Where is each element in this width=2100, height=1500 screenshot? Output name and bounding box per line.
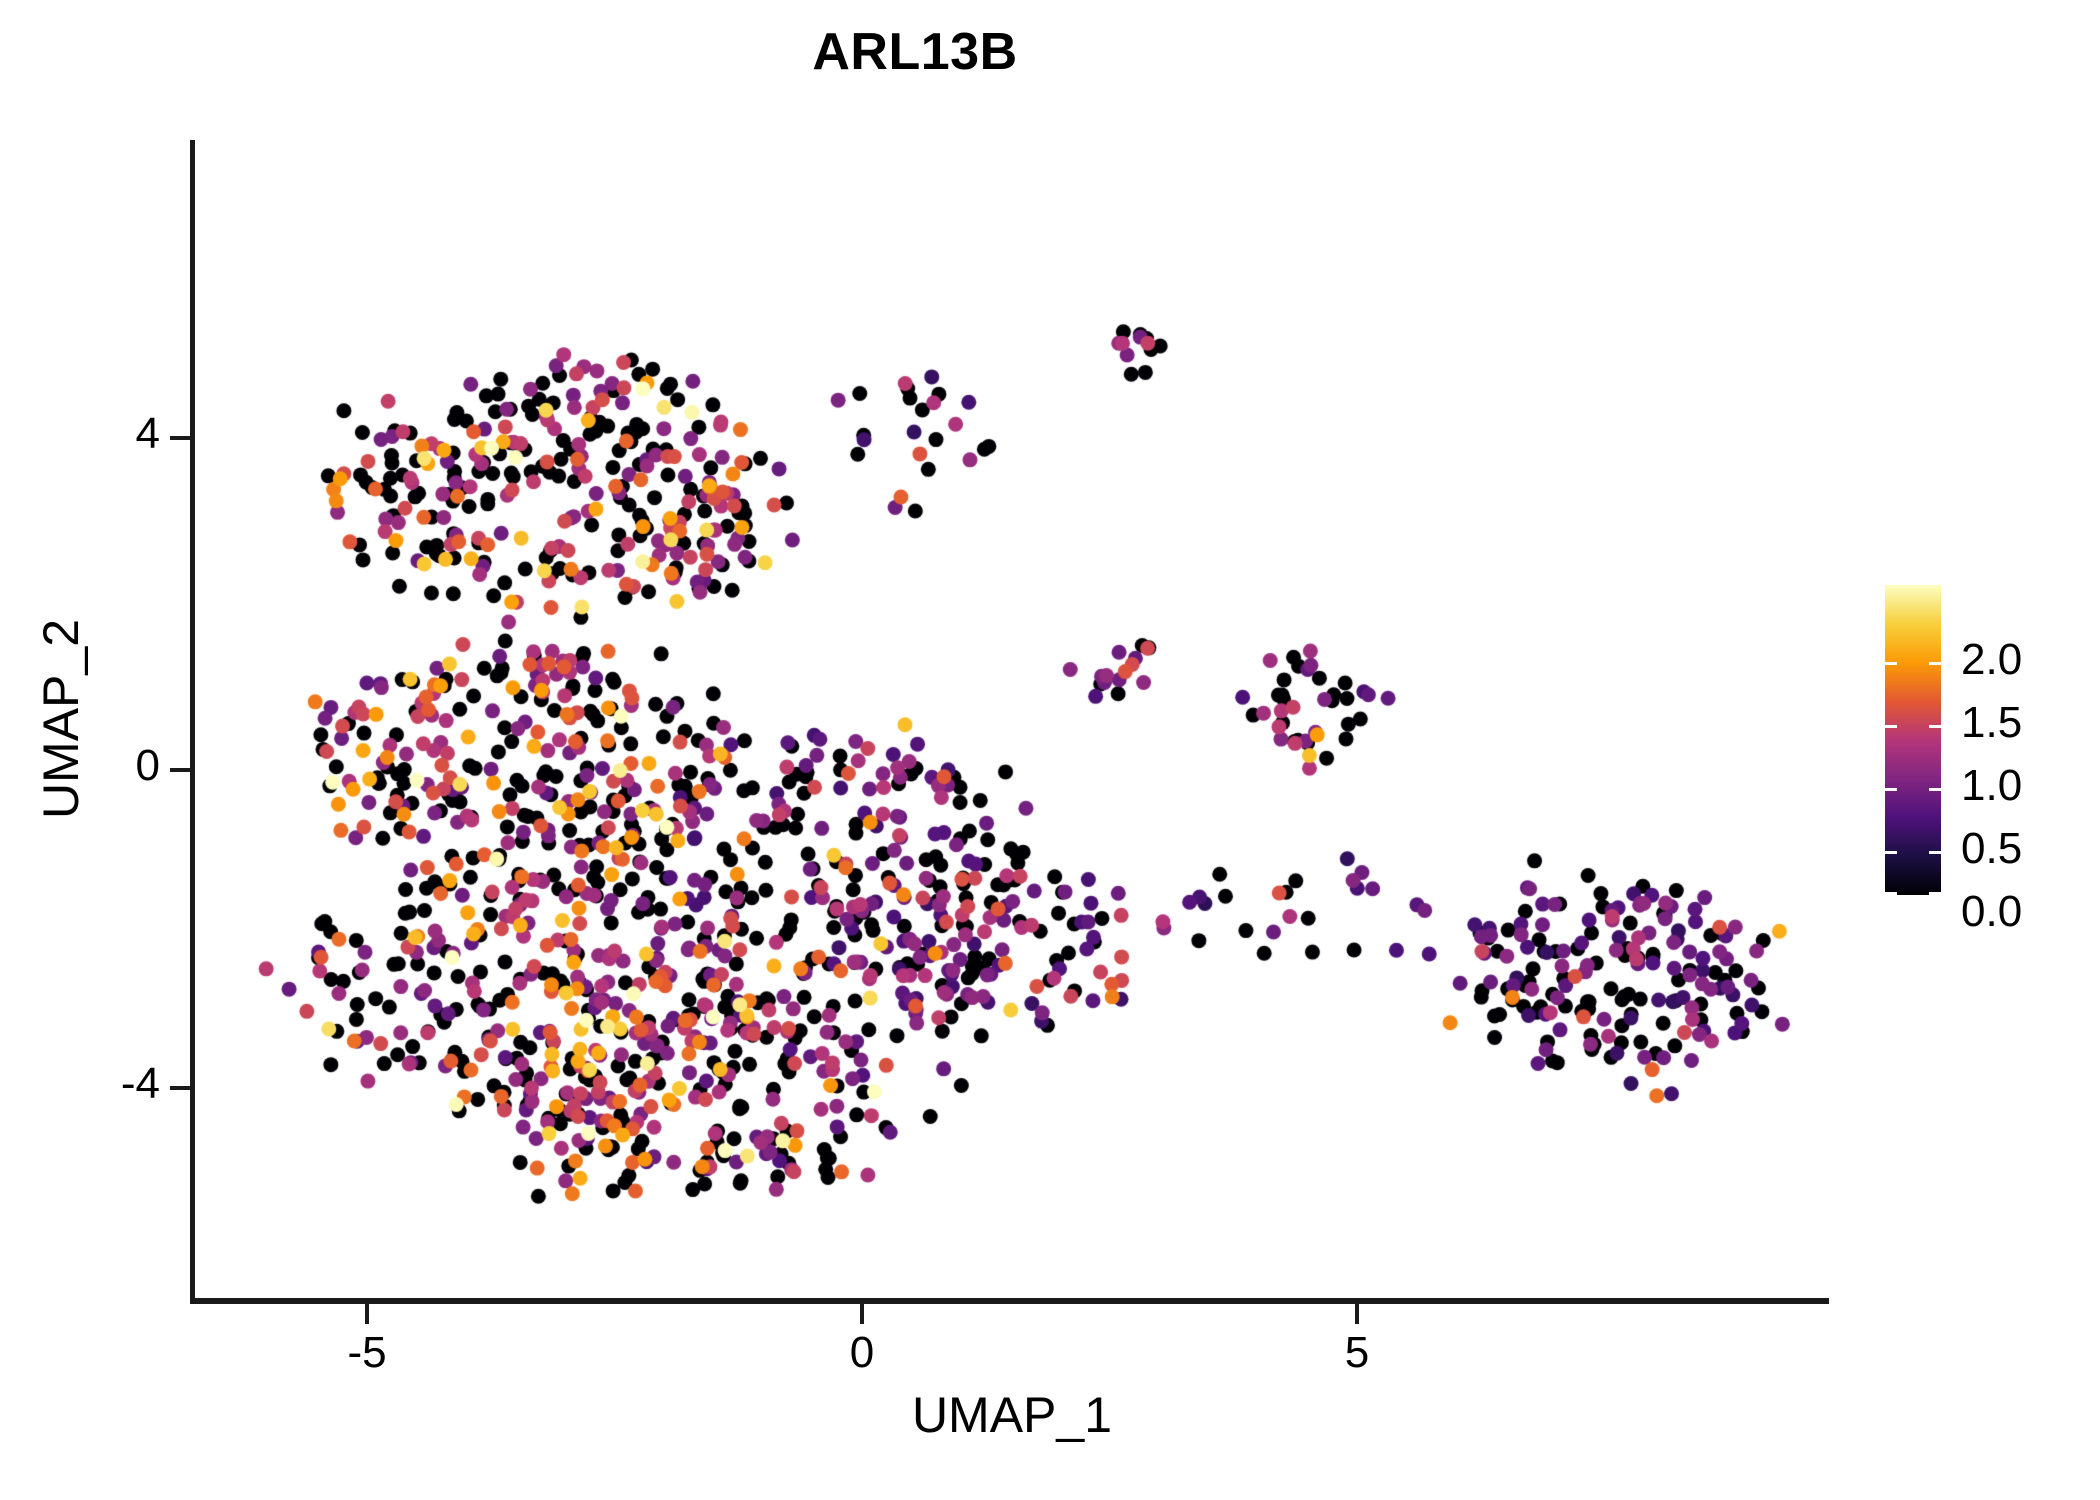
colorbar-tick-left-0: [1885, 662, 1897, 665]
x-axis-label: UMAP_1: [194, 1386, 1830, 1444]
x-tick-label-1: 0: [802, 1328, 922, 1378]
colorbar-label-1_5: 1.5: [1961, 698, 2022, 748]
colorbar-tick-left-1: [1885, 725, 1897, 728]
y-axis-label: UMAP_2: [32, 369, 90, 1069]
colorbar-tick-right-4: [1929, 892, 1941, 895]
colorbar-tick-left-4: [1885, 892, 1897, 895]
page-title: ARL13B: [0, 22, 1830, 82]
colorbar-label-2_0: 2.0: [1961, 635, 2022, 685]
colorbar-legend: 2.0 1.5 1.0 0.5 0.0: [1885, 585, 2085, 905]
colorbar-tick-right-3: [1929, 851, 1941, 854]
x-tick-label-0: -5: [307, 1328, 427, 1378]
figure-root: ARL13B -5 0 5 4 0 -4 UMAP_1 UMAP_2 2.0 1…: [0, 0, 2100, 1500]
y-axis-line: [190, 140, 195, 1304]
x-axis-line: [190, 1298, 1829, 1304]
colorbar-tick-right-0: [1929, 662, 1941, 665]
y-tick-mark-0: [170, 436, 190, 440]
y-tick-mark-2: [170, 1086, 190, 1090]
x-tick-label-2: 5: [1297, 1328, 1417, 1378]
colorbar-gradient: [1885, 585, 1941, 895]
y-tick-mark-1: [170, 768, 190, 772]
colorbar-tick-right-1: [1929, 725, 1941, 728]
colorbar-label-0_5: 0.5: [1961, 824, 2022, 874]
colorbar-label-1_0: 1.0: [1961, 761, 2022, 811]
colorbar-tick-right-2: [1929, 788, 1941, 791]
x-tick-mark-2: [1355, 1304, 1359, 1324]
x-tick-mark-0: [365, 1304, 369, 1324]
x-tick-mark-1: [860, 1304, 864, 1324]
scatter-plot-canvas: [194, 140, 1830, 1302]
colorbar-tick-left-2: [1885, 788, 1897, 791]
colorbar-tick-left-3: [1885, 851, 1897, 854]
colorbar-label-0_0: 0.0: [1961, 887, 2022, 937]
